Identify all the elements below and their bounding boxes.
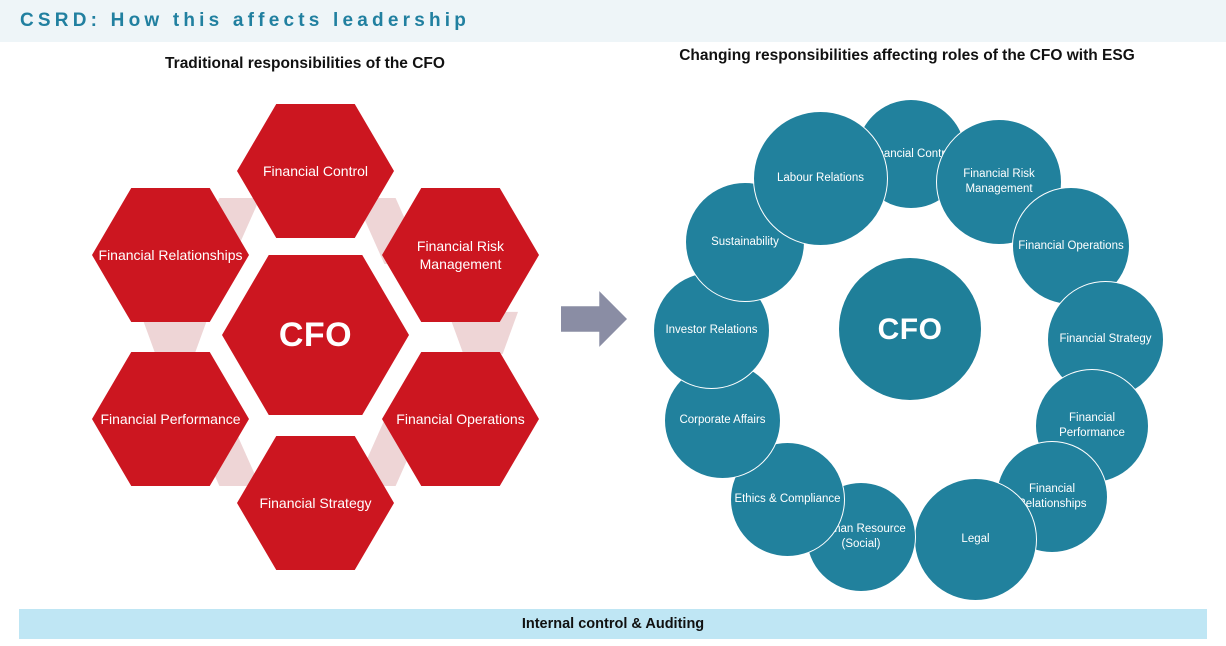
bubble-node-label: Financial Strategy	[1059, 332, 1151, 347]
hex-node-financial-operations[interactable]: Financial Operations	[382, 352, 539, 486]
bubble-node-label: Financial Performance	[1038, 411, 1146, 441]
bubble-node-label: Labour Relations	[777, 171, 864, 186]
hex-node-financial-relationships[interactable]: Financial Relationships	[92, 188, 249, 322]
bubble-node-label: Sustainability	[711, 235, 779, 250]
hex-node-financial-control[interactable]: Financial Control	[237, 104, 394, 238]
bubble-node-label: Legal	[961, 532, 989, 547]
right-panel-title: Changing responsibilities affecting role…	[657, 46, 1157, 66]
bubble-node-label: Financial Risk Management	[939, 167, 1059, 197]
left-panel-title: Traditional responsibilities of the CFO	[55, 54, 555, 74]
hex-node-financial-performance[interactable]: Financial Performance	[92, 352, 249, 486]
bubble-node-labour-relations[interactable]: Labour Relations	[753, 111, 888, 246]
bubble-node-cfo-center[interactable]: CFO	[839, 258, 981, 400]
bubble-node-label: Financial Operations	[1018, 239, 1123, 254]
footer-bar: Internal control & Auditing	[19, 609, 1207, 639]
hex-node-label: Financial Control	[263, 162, 368, 181]
hex-node-financial-strategy[interactable]: Financial Strategy	[237, 436, 394, 570]
bubble-center-label: CFO	[878, 322, 943, 337]
bubble-node-label: Corporate Affairs	[679, 413, 765, 428]
hex-node-label: Financial Strategy	[259, 494, 371, 513]
bubble-node-label: Investor Relations	[665, 323, 757, 338]
hex-node-cfo-center[interactable]: CFO	[222, 255, 409, 415]
bubble-node-label: Ethics & Compliance	[734, 492, 840, 507]
hex-node-label: Financial Risk Management	[382, 237, 539, 274]
footer-label: Internal control & Auditing	[522, 616, 704, 632]
hex-node-label: Financial Relationships	[99, 246, 243, 265]
esg-responsibilities-diagram: Changing responsibilities affecting role…	[620, 0, 1226, 646]
hex-center-label: CFO	[279, 326, 352, 345]
bubble-node-legal[interactable]: Legal	[914, 478, 1037, 601]
hex-node-label: Financial Performance	[100, 410, 240, 429]
hex-node-label: Financial Operations	[396, 410, 524, 429]
hex-node-financial-risk-management[interactable]: Financial Risk Management	[382, 188, 539, 322]
traditional-responsibilities-diagram: Traditional responsibilities of the CFO …	[0, 0, 620, 646]
